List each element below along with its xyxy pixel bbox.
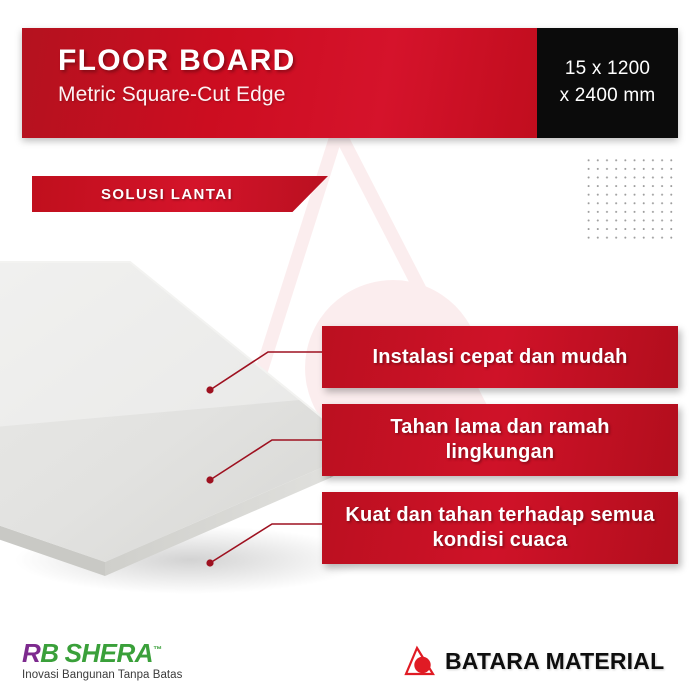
category-ribbon-label: SOLUSI LANTAI (101, 186, 233, 203)
page-title: FLOOR BOARD (58, 45, 537, 77)
dimension-line-1: 15 x 1200 (565, 56, 650, 83)
shera-mark-r: R (22, 638, 40, 668)
shera-mark-b: B (40, 638, 58, 668)
shera-tagline: Inovasi Bangunan Tanpa Batas (22, 669, 222, 681)
dot-grid-decoration (584, 156, 676, 244)
feature-callout-3-text: Kuat dan tahan terhadap semua kondisi cu… (336, 503, 664, 553)
feature-callout-2: Tahan lama dan ramah lingkungan (322, 404, 678, 476)
shera-wordmark: RBSHERA™ (22, 640, 222, 666)
feature-callout-1: Instalasi cepat dan mudah (322, 326, 678, 388)
batara-triangle-mark-icon (402, 645, 436, 677)
product-poster: FLOOR BOARD Metric Square-Cut Edge 15 x … (0, 0, 700, 700)
header-banner: FLOOR BOARD Metric Square-Cut Edge 15 x … (22, 28, 678, 138)
dimension-line-2: x 2400 mm (560, 83, 656, 110)
category-ribbon: SOLUSI LANTAI (32, 176, 328, 212)
header-title-area: FLOOR BOARD Metric Square-Cut Edge (22, 28, 537, 138)
feature-callout-3: Kuat dan tahan terhadap semua kondisi cu… (322, 492, 678, 564)
feature-callout-2-text: Tahan lama dan ramah lingkungan (336, 415, 664, 465)
batara-logo: BATARA MATERIAL (402, 645, 664, 677)
dimension-panel: 15 x 1200 x 2400 mm (537, 28, 678, 138)
page-subtitle: Metric Square-Cut Edge (58, 82, 537, 107)
shera-trademark-icon: ™ (153, 644, 162, 654)
batara-name: BATARA MATERIAL (445, 648, 664, 675)
product-board-illustration (0, 240, 360, 600)
shera-logo: RBSHERA™ Inovasi Bangunan Tanpa Batas (22, 640, 222, 681)
shera-name: SHERA (65, 638, 154, 668)
feature-callout-1-text: Instalasi cepat dan mudah (372, 345, 627, 370)
